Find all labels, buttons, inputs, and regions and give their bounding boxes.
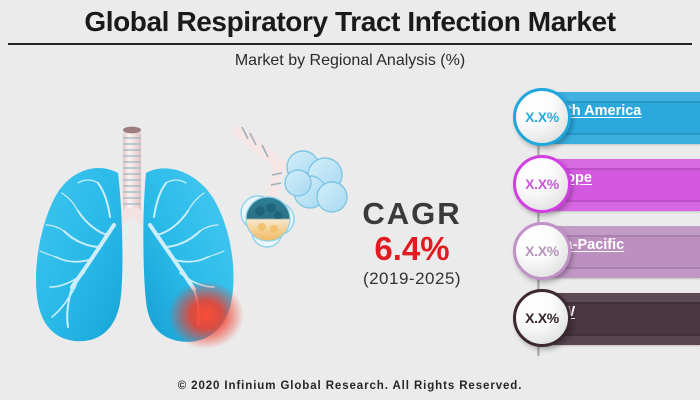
lungs-illustration	[10, 95, 350, 365]
region-value-north-america: X.X%	[525, 109, 559, 125]
page-subtitle: Market by Regional Analysis (%)	[0, 52, 700, 70]
region-badge-row[interactable]: X.X%	[513, 289, 571, 347]
cagr-label: CAGR	[352, 198, 472, 229]
title-underline-rule	[8, 43, 692, 45]
infographic-canvas: Global Respiratory Tract Infection Marke…	[0, 0, 700, 400]
legend-row-europe[interactable]: Europe X.X%	[505, 155, 700, 215]
lungs-illustration-svg	[10, 95, 350, 365]
legend-row-row[interactable]: RoW X.X%	[505, 289, 700, 349]
copyright-footer: © 2020 Infinium Global Research. All Rig…	[0, 380, 700, 392]
region-value-asia-pacific: X.X%	[525, 243, 559, 259]
alveoli-cross-section	[241, 196, 294, 247]
regional-legend: North America X.X% Europe X.X%	[505, 88, 700, 363]
alveoli-cluster	[285, 151, 347, 212]
cagr-value: 6.4%	[352, 231, 472, 268]
legend-row-north-america[interactable]: North America X.X%	[505, 88, 700, 148]
cagr-block: CAGR 6.4% (2019-2025)	[352, 198, 472, 289]
legend-row-asia-pacific[interactable]: Asia-Pacific X.X%	[505, 222, 700, 282]
alveoli-diagram	[238, 127, 347, 247]
region-badge-europe[interactable]: X.X%	[513, 155, 571, 213]
region-value-europe: X.X%	[525, 176, 559, 192]
infection-spot	[168, 281, 244, 349]
cagr-period: (2019-2025)	[352, 269, 472, 289]
region-badge-north-america[interactable]: X.X%	[513, 88, 571, 146]
page-title: Global Respiratory Tract Infection Marke…	[0, 6, 700, 38]
region-value-row: X.X%	[525, 310, 559, 326]
region-badge-asia-pacific[interactable]: X.X%	[513, 222, 571, 280]
